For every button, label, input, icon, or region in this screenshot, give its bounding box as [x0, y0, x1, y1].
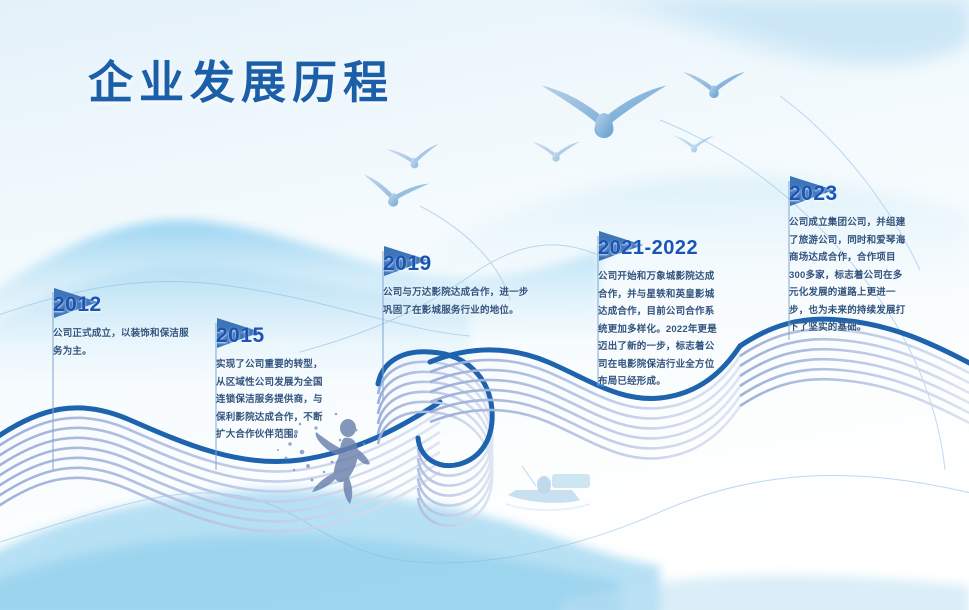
birds-group [360, 72, 745, 211]
milestone-2015[interactable]: 2015 实现了公司重要的转型，从区域性公司发展为全国连锁保洁服务提供商，与保利… [216, 325, 324, 444]
poster-canvas: 企业发展历程 2012 公司正式成立，以装饰和保洁服务为主。 2015 实现了公… [0, 0, 969, 610]
page-title: 企业发展历程 [88, 58, 394, 108]
milestone-year: 2015 [216, 325, 324, 346]
milestone-description: 公司开始和万象城影院达成合作，并与星轶和英皇影城达成合作，目前公司合作系统更加多… [598, 268, 720, 391]
milestone-2012[interactable]: 2012 公司正式成立，以装饰和保洁服务为主。 [53, 294, 193, 360]
milestone-2021-2022[interactable]: 2021-2022 公司开始和万象城影院达成合作，并与星轶和英皇影城达成合作，目… [598, 238, 720, 391]
bird-icon [542, 86, 667, 139]
fishing-boat-icon [506, 466, 590, 510]
bird-icon [683, 72, 745, 98]
bird-icon [360, 174, 429, 211]
milestone-year: 2012 [53, 294, 193, 315]
bird-icon [387, 144, 441, 171]
milestone-2023[interactable]: 2023 公司成立集团公司，并组建了旅游公司，同时和爱琴海商场达成合作，合作项目… [789, 183, 907, 337]
milestone-2019[interactable]: 2019 公司与万达影院达成合作，进一步巩固了在影城服务行业的地位。 [383, 253, 535, 319]
bird-icon [532, 142, 580, 162]
milestone-year: 2023 [789, 183, 907, 204]
milestone-year: 2019 [383, 253, 535, 274]
milestone-description: 公司成立集团公司，并组建了旅游公司，同时和爱琴海商场达成合作，合作项目300多家… [789, 214, 907, 337]
milestone-description: 公司与万达影院达成合作，进一步巩固了在影城服务行业的地位。 [383, 284, 535, 319]
milestone-year: 2021-2022 [598, 238, 720, 258]
milestone-description: 实现了公司重要的转型，从区域性公司发展为全国连锁保洁服务提供商，与保利影院达成合… [216, 356, 324, 444]
milestone-description: 公司正式成立，以装饰和保洁服务为主。 [53, 325, 193, 360]
bird-icon [674, 136, 714, 153]
